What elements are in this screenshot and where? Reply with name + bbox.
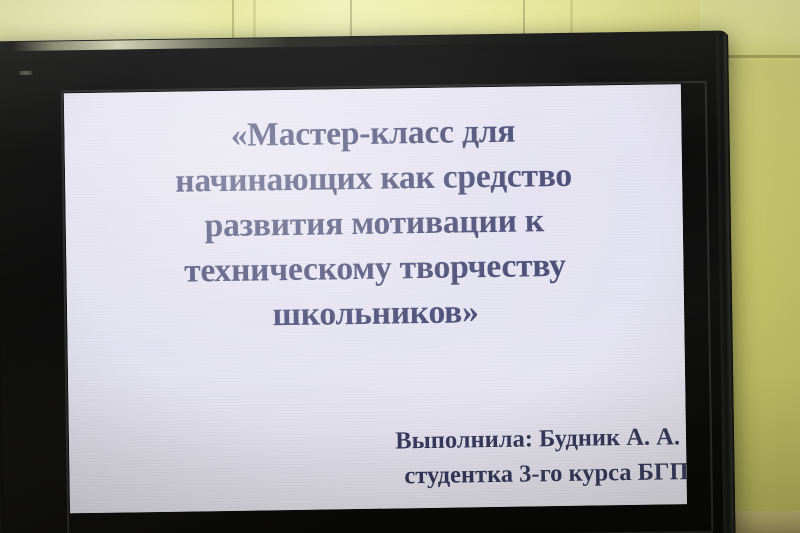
- tv-screen: «Мастер-класс для начинающих как средств…: [64, 84, 687, 513]
- presentation-slide: «Мастер-класс для начинающих как средств…: [64, 84, 687, 513]
- slide-title: «Мастер-класс для начинающих как средств…: [70, 106, 678, 340]
- slide-author-block: Выполнила: Будник А. А. студентка 3-го к…: [69, 420, 687, 499]
- screenshot-stage: «Мастер-класс для начинающих как средств…: [0, 0, 800, 533]
- television: «Мастер-класс для начинающих как средств…: [0, 30, 736, 533]
- slide-title-line-5: школьников»: [73, 286, 679, 340]
- power-led-indicator: [19, 71, 32, 75]
